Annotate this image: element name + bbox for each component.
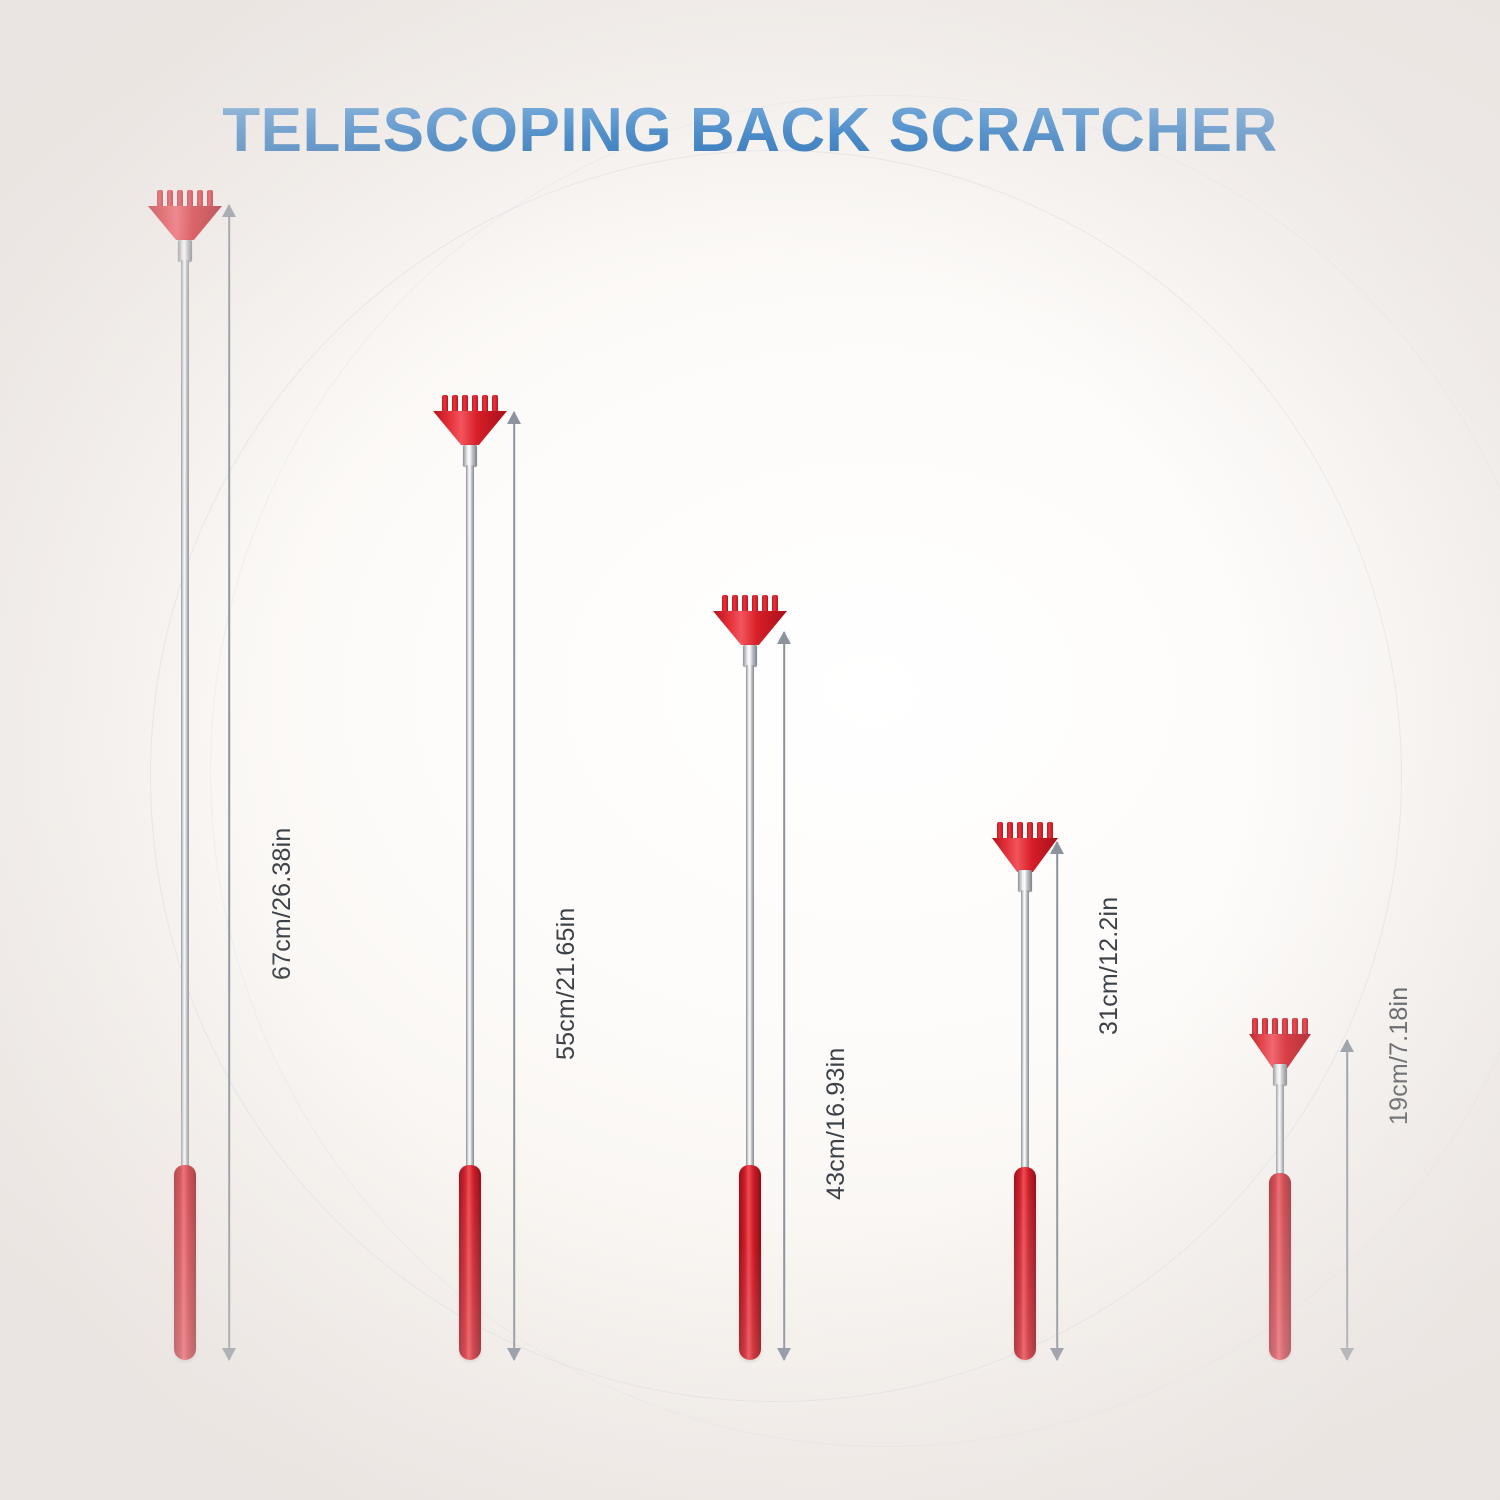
arrow-head-down (507, 1348, 521, 1361)
arrow-head-up (777, 631, 791, 644)
scratcher-grip (739, 1165, 761, 1360)
scratcher-shaft (181, 260, 189, 1260)
dimension-arrow-size-4 (1048, 842, 1066, 1360)
scratcher-collar (743, 645, 757, 667)
scratcher-head-fan (433, 411, 507, 445)
scratcher-teeth (148, 190, 222, 206)
arrow-head-up (1340, 1039, 1354, 1052)
scratcher-size-1 (145, 190, 225, 1360)
tooth (1282, 1018, 1288, 1034)
scratcher-teeth (992, 822, 1058, 838)
tooth (1262, 1018, 1268, 1034)
dimension-arrow-size-3 (775, 632, 793, 1360)
arrow-head-down (1340, 1348, 1354, 1361)
dimension-label-size-4: 31cm/12.2in (1095, 897, 1124, 1035)
scratcher-teeth (433, 395, 507, 411)
tooth (997, 822, 1003, 838)
tooth (1272, 1018, 1278, 1034)
tooth (1007, 822, 1013, 838)
tooth (482, 395, 488, 411)
tooth (197, 190, 203, 206)
arrow-head-down (1050, 1348, 1064, 1361)
tooth (452, 395, 458, 411)
scratcher-collar (1273, 1064, 1287, 1086)
scratcher-head (1249, 1018, 1311, 1068)
tooth (442, 395, 448, 411)
tooth (1047, 822, 1053, 838)
tooth (472, 395, 478, 411)
scratcher-collar (463, 445, 477, 467)
arrow-head-up (222, 204, 236, 217)
scratcher-grip (174, 1165, 196, 1360)
scratcher-teeth (1249, 1018, 1311, 1034)
dimension-line (228, 205, 230, 1360)
dimension-arrow-size-5 (1338, 1040, 1356, 1360)
tooth (1017, 822, 1023, 838)
tooth (1252, 1018, 1258, 1034)
dimension-line (1346, 1040, 1348, 1360)
scratcher-collar (1018, 870, 1032, 892)
scratcher-head (433, 395, 507, 445)
scratcher-head-fan (148, 206, 222, 240)
arrow-head-down (222, 1348, 236, 1361)
tooth (762, 595, 768, 611)
dimension-label-size-5: 19cm/7.18in (1385, 987, 1414, 1125)
scratcher-grip (1014, 1167, 1036, 1360)
scratcher-shaft (466, 465, 474, 1260)
page-title: TELESCOPING BACK SCRATCHER (0, 95, 1500, 166)
dimension-line (1056, 842, 1058, 1360)
dimension-label-size-2: 55cm/21.65in (552, 908, 581, 1061)
tooth (1037, 822, 1043, 838)
scratcher-head-fan (1249, 1034, 1311, 1068)
tooth (462, 395, 468, 411)
tooth (187, 190, 193, 206)
dimension-label-size-1: 67cm/26.38in (268, 828, 297, 981)
arrow-head-down (777, 1348, 791, 1361)
tooth (167, 190, 173, 206)
arrow-head-up (1050, 841, 1064, 854)
dimension-label-size-3: 43cm/16.93in (822, 1048, 851, 1201)
tooth (177, 190, 183, 206)
dimension-arrow-size-1 (220, 205, 238, 1360)
dimension-line (513, 412, 515, 1360)
scratcher-grip (1269, 1173, 1291, 1360)
scratcher-head (148, 190, 222, 240)
scratcher-grip (459, 1165, 481, 1360)
scratcher-size-2 (430, 395, 510, 1360)
tooth (752, 595, 758, 611)
arrow-head-up (507, 411, 521, 424)
tooth (722, 595, 728, 611)
tooth (492, 395, 498, 411)
tooth (207, 190, 213, 206)
dimension-line (783, 632, 785, 1360)
tooth (742, 595, 748, 611)
tooth (1027, 822, 1033, 838)
tooth (157, 190, 163, 206)
tooth (772, 595, 778, 611)
tooth (1302, 1018, 1308, 1034)
tooth (732, 595, 738, 611)
scratcher-teeth (713, 595, 787, 611)
product-infographic: TELESCOPING BACK SCRATCHER 67cm/26.38in (0, 0, 1500, 1500)
scratcher-collar (178, 240, 192, 262)
dimension-arrow-size-2 (505, 412, 523, 1360)
scratcher-size-5 (1240, 1018, 1320, 1360)
tooth (1292, 1018, 1298, 1034)
